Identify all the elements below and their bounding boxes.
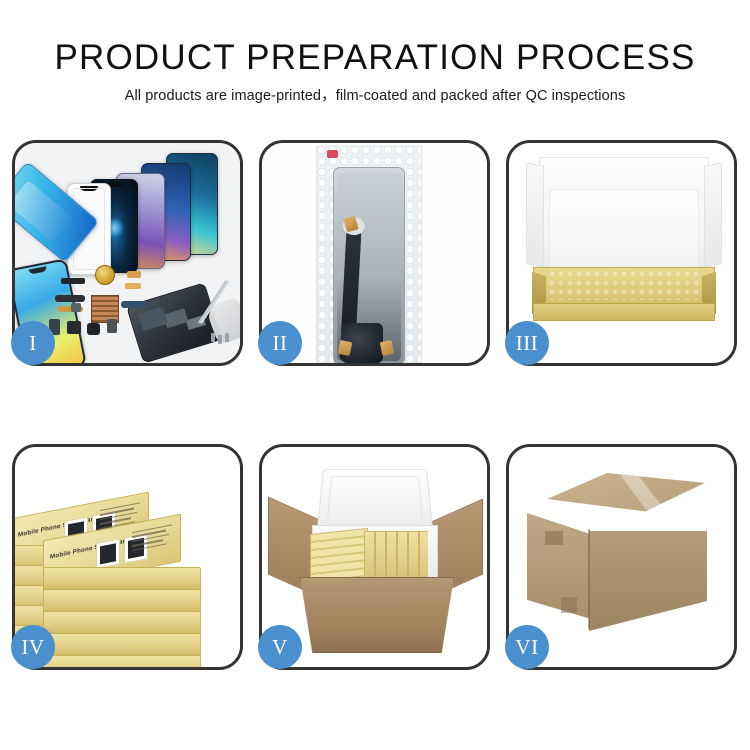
notch-icon xyxy=(80,186,98,191)
step-badge-4: IV xyxy=(11,625,55,669)
screws-icon xyxy=(211,333,233,345)
page-subtitle: All products are image-printed，film-coat… xyxy=(0,78,750,105)
carton-left-face xyxy=(527,513,591,619)
retail-boxes-upright xyxy=(320,531,428,579)
step-badge-5: V xyxy=(258,625,302,669)
box-spec-lines xyxy=(132,524,172,560)
red-label-icon xyxy=(327,150,338,158)
header: PRODUCT PREPARATION PROCESS All products… xyxy=(0,0,750,105)
carton-right-face xyxy=(589,531,707,631)
process-step-panel-1[interactable]: I xyxy=(12,140,243,366)
box-window-icon xyxy=(96,538,120,569)
small-part-icon xyxy=(71,303,81,312)
flex-cable-icon xyxy=(55,295,85,302)
foam-sheet xyxy=(549,189,699,277)
step-badge-6: VI xyxy=(505,625,549,669)
process-step-panel-3[interactable]: III xyxy=(506,140,737,366)
bubble-wrapped-contents xyxy=(548,270,700,300)
notch-icon xyxy=(29,266,48,274)
yellow-box-front xyxy=(533,303,715,321)
retail-box xyxy=(43,611,201,635)
bubble-wrap-bag xyxy=(316,145,422,363)
page-title: PRODUCT PREPARATION PROCESS xyxy=(0,0,750,78)
step-badge-3: III xyxy=(505,321,549,365)
retail-box xyxy=(43,633,201,657)
taptic-engine-icon xyxy=(67,321,81,334)
retail-box xyxy=(43,567,201,591)
sealed-carton xyxy=(527,473,719,629)
styrofoam-lid xyxy=(317,469,434,532)
earpiece-part-icon xyxy=(61,278,85,284)
retail-box xyxy=(43,589,201,613)
carton-tab xyxy=(545,531,563,545)
small-part-icon xyxy=(107,319,117,333)
flex-connector-icon xyxy=(127,271,141,278)
process-step-grid: I II xyxy=(12,140,738,670)
carton-tab xyxy=(561,597,577,613)
process-step-panel-2[interactable]: II xyxy=(259,140,490,366)
camera-module-icon xyxy=(87,323,100,335)
product-preparation-page: PRODUCT PREPARATION PROCESS All products… xyxy=(0,0,750,750)
step-badge-2: II xyxy=(258,321,302,365)
step-badge-1: I xyxy=(11,321,55,365)
flex-cable-icon xyxy=(121,301,147,308)
carton-body xyxy=(300,577,454,653)
process-step-panel-4[interactable]: Mobile Phone Spare Parts Mobile Phone Sp… xyxy=(12,444,243,670)
carton-edge xyxy=(588,529,590,629)
process-step-panel-5[interactable]: V xyxy=(259,444,490,670)
speaker-part-icon xyxy=(95,265,115,285)
process-step-panel-6[interactable]: VI xyxy=(506,444,737,670)
retail-box xyxy=(43,655,201,667)
gold-connector-icon xyxy=(380,340,395,356)
flex-connector-icon xyxy=(125,283,141,289)
